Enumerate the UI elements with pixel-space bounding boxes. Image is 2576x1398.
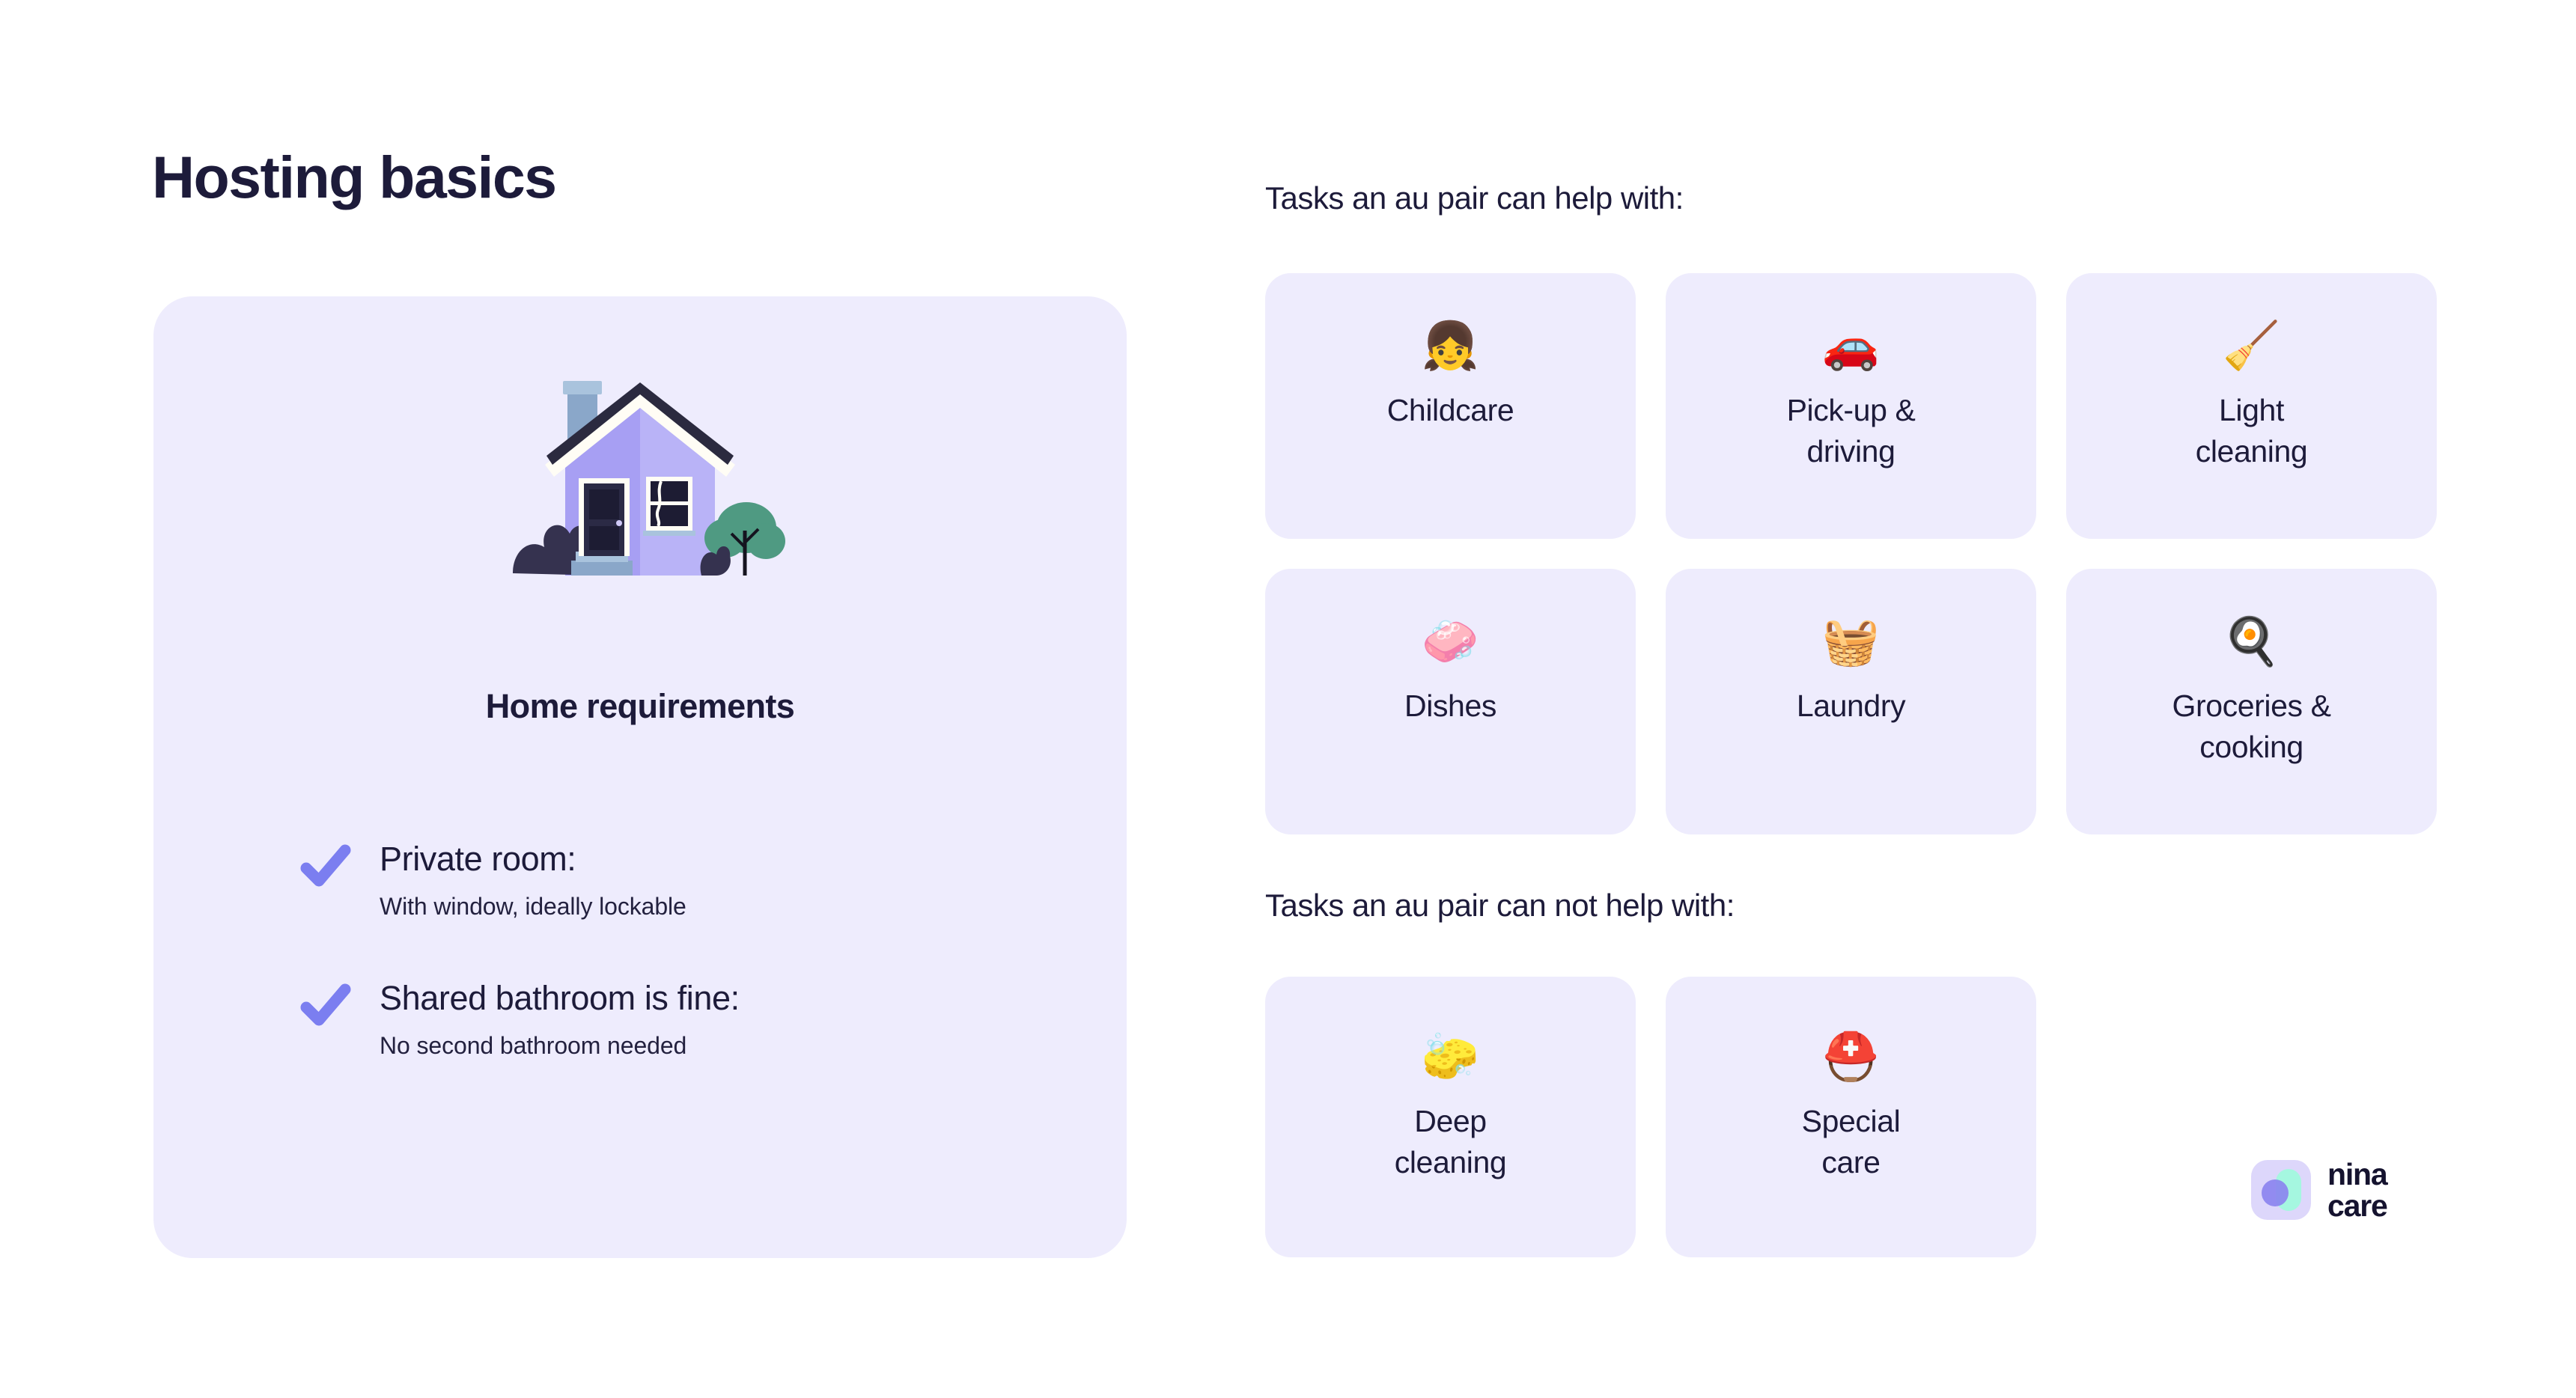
broom-emoji: 🧹 bbox=[2223, 320, 2280, 373]
task-label: Laundry bbox=[1783, 686, 1919, 727]
requirement-sublabel: With window, ideally lockable bbox=[380, 892, 1049, 921]
task-card-special-care[interactable]: ⛑️ Special care bbox=[1666, 977, 2036, 1257]
car-emoji: 🚗 bbox=[1822, 320, 1880, 373]
tasks-cannot-heading: Tasks an au pair can not help with: bbox=[1265, 888, 1735, 924]
requirement-item: Shared bathroom is fine: No second bathr… bbox=[300, 979, 1049, 1060]
task-label: Pick-up & driving bbox=[1773, 390, 1929, 472]
house-illustration bbox=[483, 367, 797, 607]
check-icon bbox=[300, 844, 351, 889]
tasks-can-heading: Tasks an au pair can help with: bbox=[1265, 180, 1684, 216]
sponge-emoji: 🧽 bbox=[1422, 1031, 1479, 1084]
home-requirements-card: Home requirements Private room: With win… bbox=[153, 296, 1127, 1258]
task-label: Childcare bbox=[1374, 390, 1528, 431]
logo-line-care: care bbox=[2327, 1190, 2387, 1221]
task-card-dishes[interactable]: 🧼 Dishes bbox=[1265, 569, 1636, 834]
slide-root: Hosting basics bbox=[0, 0, 2576, 1398]
check-icon bbox=[300, 983, 351, 1028]
logo-line-nina: nina bbox=[2327, 1159, 2387, 1190]
task-card-deep-cleaning[interactable]: 🧽 Deep cleaning bbox=[1265, 977, 1636, 1257]
task-card-groceries-cooking[interactable]: 🍳 Groceries & cooking bbox=[2066, 569, 2437, 834]
tasks-can-grid: 👧 Childcare 🚗 Pick-up & driving 🧹 Light … bbox=[1265, 273, 2437, 834]
basket-emoji: 🧺 bbox=[1822, 615, 1880, 669]
cooking-pan-emoji: 🍳 bbox=[2223, 615, 2280, 669]
nina-care-logo: nina care bbox=[2251, 1159, 2387, 1221]
task-card-light-cleaning[interactable]: 🧹 Light cleaning bbox=[2066, 273, 2437, 539]
task-label: Light cleaning bbox=[2182, 390, 2321, 472]
task-card-childcare[interactable]: 👧 Childcare bbox=[1265, 273, 1636, 539]
girl-emoji: 👧 bbox=[1422, 320, 1479, 373]
requirement-sublabel: No second bathroom needed bbox=[380, 1031, 1049, 1060]
requirement-item: Private room: With window, ideally locka… bbox=[300, 840, 1049, 921]
requirements-list: Private room: With window, ideally locka… bbox=[300, 840, 1049, 1060]
requirement-label: Shared bathroom is fine: bbox=[380, 979, 1049, 1018]
home-requirements-heading: Home requirements bbox=[153, 687, 1127, 726]
logo-mark-icon bbox=[2251, 1160, 2311, 1220]
page-title: Hosting basics bbox=[152, 147, 556, 209]
task-label: Deep cleaning bbox=[1381, 1101, 1520, 1183]
logo-wordmark: nina care bbox=[2327, 1159, 2387, 1221]
logo-circle-shape bbox=[2262, 1179, 2289, 1206]
task-label: Groceries & cooking bbox=[2158, 686, 2344, 768]
task-label: Dishes bbox=[1391, 686, 1510, 727]
rescue-helmet-emoji: ⛑️ bbox=[1822, 1031, 1880, 1084]
task-card-laundry[interactable]: 🧺 Laundry bbox=[1666, 569, 2036, 834]
task-label: Special care bbox=[1788, 1101, 1914, 1183]
task-card-pickup-driving[interactable]: 🚗 Pick-up & driving bbox=[1666, 273, 2036, 539]
soap-emoji: 🧼 bbox=[1422, 615, 1479, 669]
requirement-label: Private room: bbox=[380, 840, 1049, 879]
